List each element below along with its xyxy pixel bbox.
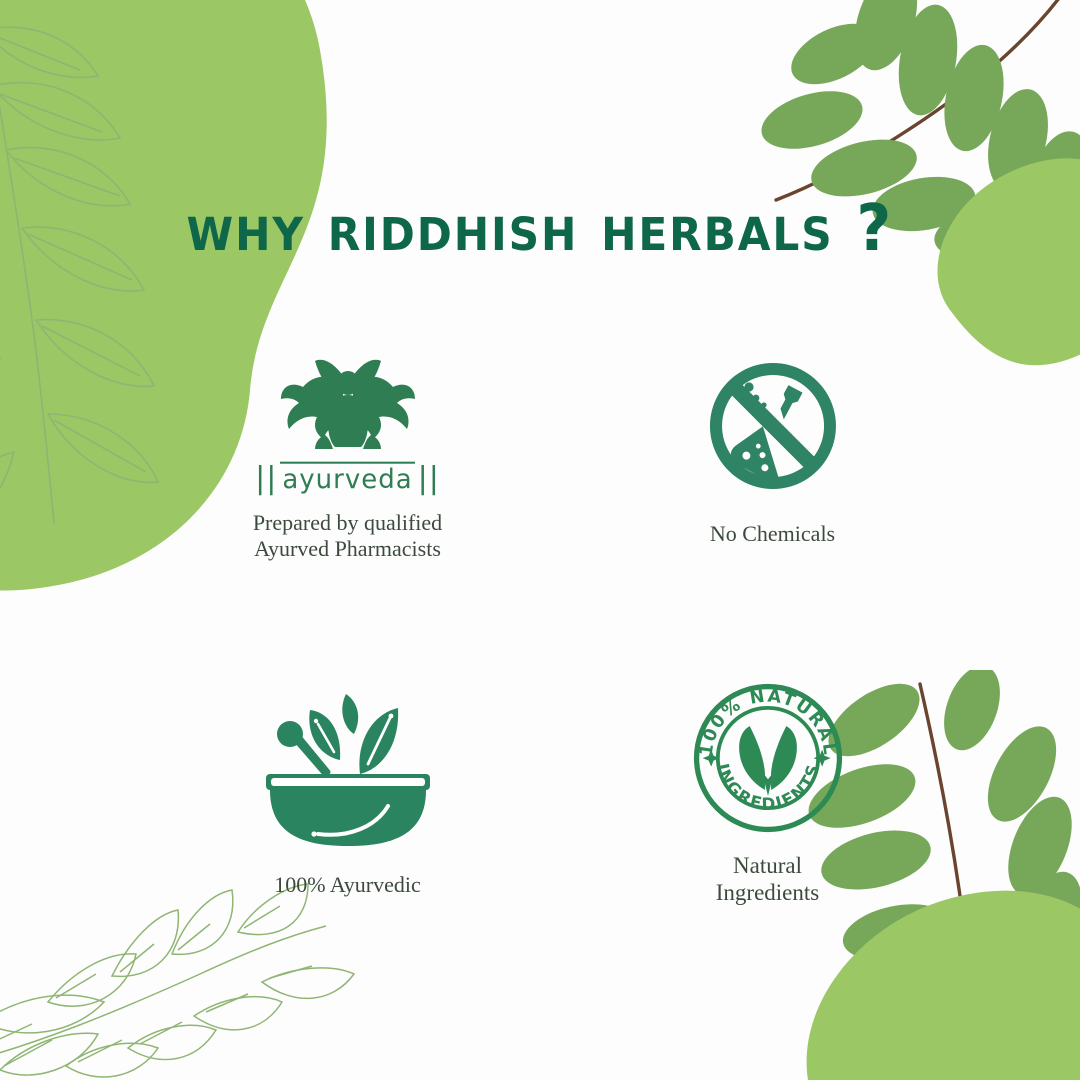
ayurveda-meditation-icon: [273, 353, 423, 463]
logo-word: ayurveda: [280, 462, 414, 496]
feature-caption: Natural Ingredients: [716, 852, 819, 906]
logo-bars-right: ||: [418, 461, 440, 496]
no-chemicals-icon: [704, 357, 842, 495]
mortar-pestle-leaves-icon: [258, 688, 438, 848]
leaf-branch-top-right: [760, 0, 1080, 340]
feature-natural-ingredients: 100% NATURAL INGREDIENTS: [545, 640, 940, 935]
poster-canvas: Why Riddhish Herbals ?: [0, 0, 1080, 1080]
feature-no-chemicals: No Chemicals: [545, 345, 940, 640]
page-title: Why Riddhish Herbals ?: [187, 192, 894, 266]
feature-caption: No Chemicals: [710, 521, 835, 547]
feature-caption: Prepared by qualified Ayurved Pharmacist…: [253, 510, 442, 562]
natural-ingredients-stamp-icon: 100% NATURAL INGREDIENTS: [692, 682, 844, 834]
feature-caption: 100% Ayurvedic: [274, 872, 420, 898]
logo-bars-left: ||: [255, 461, 277, 496]
feature-qualified-pharmacists: || ayurveda || Prepared by qualified Ayu…: [150, 345, 545, 640]
ayurveda-logo-text: || ayurveda ||: [255, 461, 440, 496]
page-title-wrap: Why Riddhish Herbals ?: [0, 192, 1080, 266]
features-grid: || ayurveda || Prepared by qualified Ayu…: [150, 345, 940, 935]
feature-100-percent-ayurvedic: 100% Ayurvedic: [150, 640, 545, 935]
